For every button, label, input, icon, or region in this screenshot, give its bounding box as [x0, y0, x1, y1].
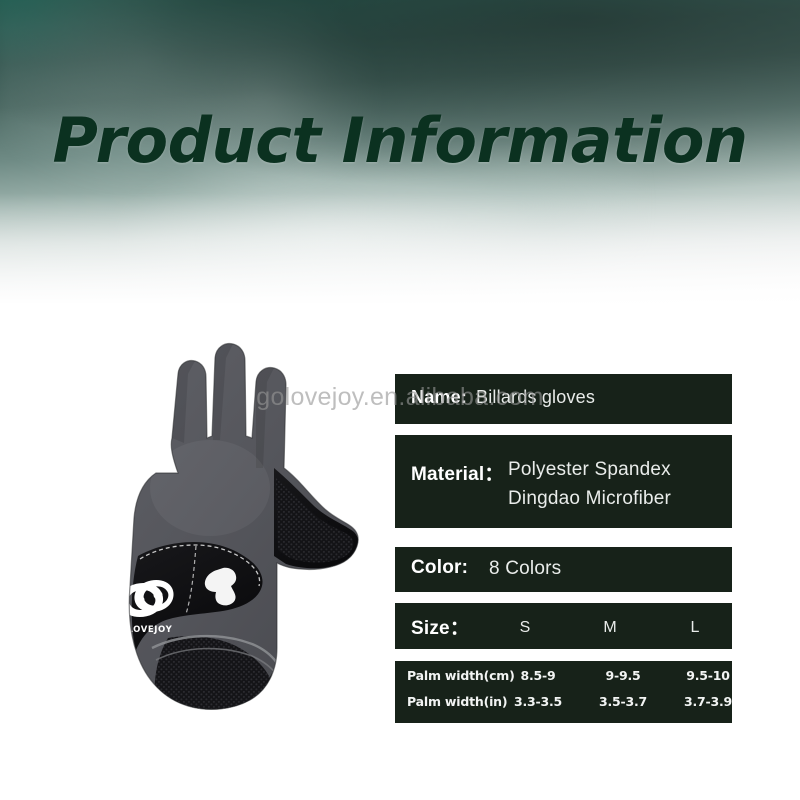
size-measurement-table: Palm width(cm) 8.5-9 9-9.5 9.5-10 Palm w…: [395, 661, 732, 723]
material-value-line-1: Polyester Spandex: [508, 459, 671, 481]
size-column-m: M: [590, 619, 630, 637]
product-information-page: Product Information: [0, 0, 800, 800]
hero-banner: Product Information: [0, 0, 800, 303]
material-value-line-2: Dingdao Microfiber: [508, 488, 671, 510]
measurement-cell-m: 9-9.5: [593, 668, 653, 683]
info-row-material: Material： Polyester Spandex Dingdao Micr…: [395, 435, 732, 528]
info-row-color: Color: 8 Colors: [395, 547, 732, 592]
info-row-size: Size： S M L: [395, 603, 732, 649]
glove-image: GOLOVEJOY: [60, 318, 405, 758]
info-row-name: Name: Billards gloves: [395, 374, 732, 424]
table-row: Palm width(in) 3.3-3.5 3.5-3.7 3.7-3.9: [395, 694, 732, 720]
size-column-headers: S M L: [395, 619, 732, 639]
page-title: Product Information: [0, 104, 800, 177]
glove-illustration: GOLOVEJOY: [60, 318, 405, 758]
measurement-cell-l: 9.5-10: [678, 668, 738, 683]
material-label: Material：: [411, 459, 504, 486]
measurement-row-label: Palm width(cm): [407, 668, 515, 683]
name-value: Billards gloves: [476, 387, 595, 408]
measurement-cell-s: 8.5-9: [508, 668, 568, 683]
table-row: Palm width(cm) 8.5-9 9-9.5 9.5-10: [395, 668, 732, 694]
measurement-row-label: Palm width(in): [407, 694, 507, 709]
measurement-cell-m: 3.5-3.7: [593, 694, 653, 709]
size-column-s: S: [505, 619, 545, 637]
color-value: 8 Colors: [489, 558, 561, 580]
size-column-l: L: [675, 619, 715, 637]
hero-bottom-fade: [0, 193, 800, 303]
measurement-table-body: Palm width(cm) 8.5-9 9-9.5 9.5-10 Palm w…: [395, 661, 732, 723]
measurement-cell-l: 3.7-3.9: [678, 694, 738, 709]
name-label: Name:: [411, 387, 467, 408]
measurement-cell-s: 3.3-3.5: [508, 694, 568, 709]
product-photo[interactable]: GOLOVEJOY: [60, 318, 405, 758]
name-row-content: Name: Billards gloves: [411, 387, 595, 408]
svg-text:GOLOVEJOY: GOLOVEJOY: [112, 625, 173, 635]
color-label: Color:: [411, 557, 468, 579]
content-card: GOLOVEJOY: [43, 303, 758, 771]
